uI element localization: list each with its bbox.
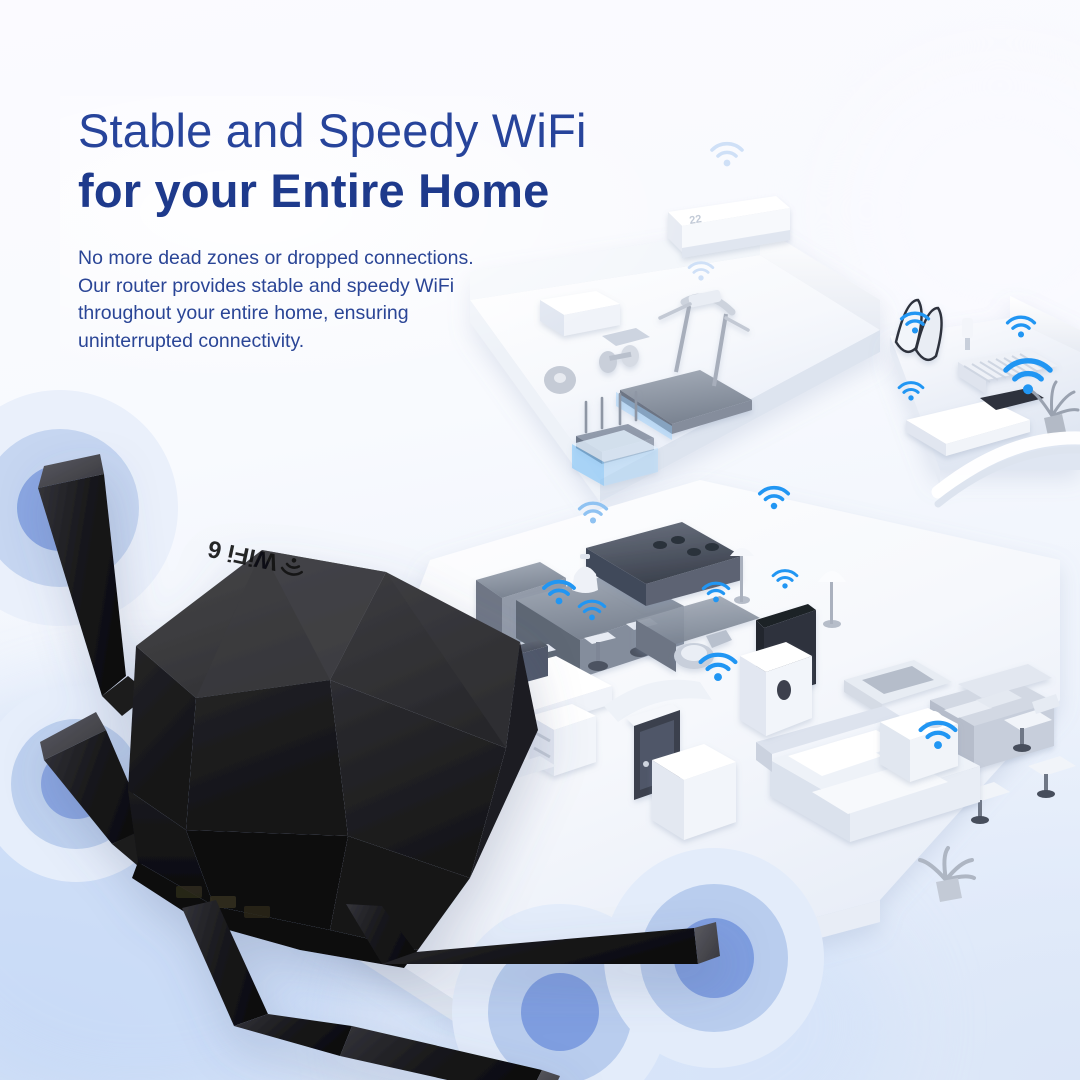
copy-block: Stable and Speedy WiFi for your Entire H… [78, 104, 718, 356]
antenna-icon [38, 454, 150, 716]
kettlebell [544, 366, 576, 394]
router-icon: WiFi 6 [0, 430, 760, 1080]
decor-plant [920, 848, 974, 902]
router-body [128, 550, 538, 968]
body-paragraph: No more dead zones or dropped connection… [78, 245, 558, 356]
surfboards [896, 300, 942, 360]
wifi6-badge-label: WiFi 6 [205, 535, 280, 576]
poster-canvas: 22 [0, 0, 1080, 1080]
page-title-line2: for your Entire Home [78, 162, 718, 219]
dining-chair [1028, 756, 1076, 798]
page-title-line1: Stable and Speedy WiFi [78, 104, 718, 158]
